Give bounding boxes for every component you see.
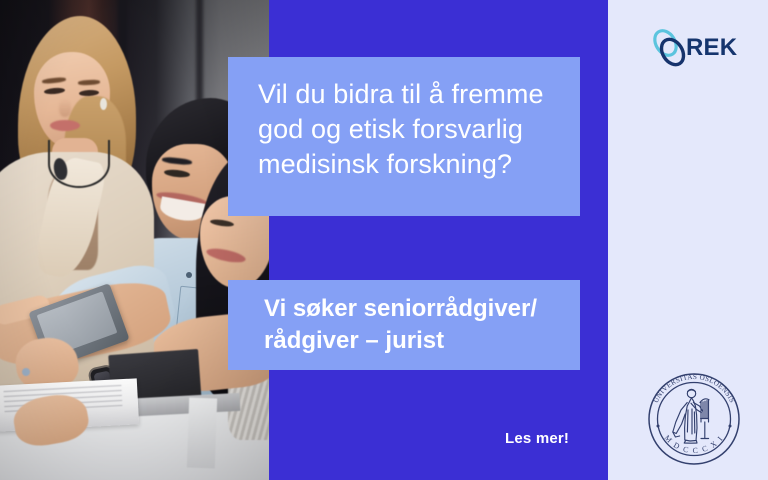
rek-wordmark: REK <box>686 34 737 62</box>
rek-logo[interactable]: REK <box>650 26 750 74</box>
recruitment-banner: Vil du bidra til å fremme god og etisk f… <box>0 0 768 480</box>
universitas-osloensis-seal-icon: UNIVERSITAS OSLOENSIS M D C C C X I <box>641 366 747 472</box>
read-more-link[interactable]: Les mer! <box>505 430 569 447</box>
headline-line-1: Vil du bidra til å fremme <box>258 77 558 112</box>
job-title-line-1: Vi søker seniorrådgiver/ <box>264 293 558 325</box>
headline-box: Vil du bidra til å fremme god og etisk f… <box>228 57 580 216</box>
job-title-box: Vi søker seniorrådgiver/ rådgiver – juri… <box>228 280 580 370</box>
headline-line-2: god og etisk forsvarlig <box>258 112 558 147</box>
seal-ring-text: UNIVERSITAS OSLOENSIS <box>652 373 737 404</box>
headline-line-3: medisinsk forskning? <box>258 147 558 182</box>
uio-seal: UNIVERSITAS OSLOENSIS M D C C C X I <box>641 366 747 472</box>
apollo-with-lyre-figure <box>673 389 709 443</box>
seal-year-text: M D C C C X I <box>663 433 726 455</box>
job-title-line-2: rådgiver – jurist <box>264 325 558 357</box>
